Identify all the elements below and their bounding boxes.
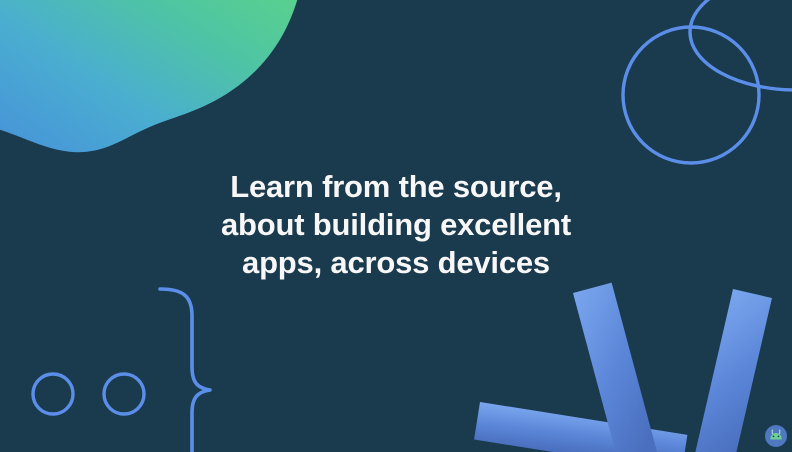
slide-background-art [0,0,792,452]
android-bot-logo-icon [764,424,788,448]
presentation-slide: Learn from the source, about building ex… [0,0,792,452]
